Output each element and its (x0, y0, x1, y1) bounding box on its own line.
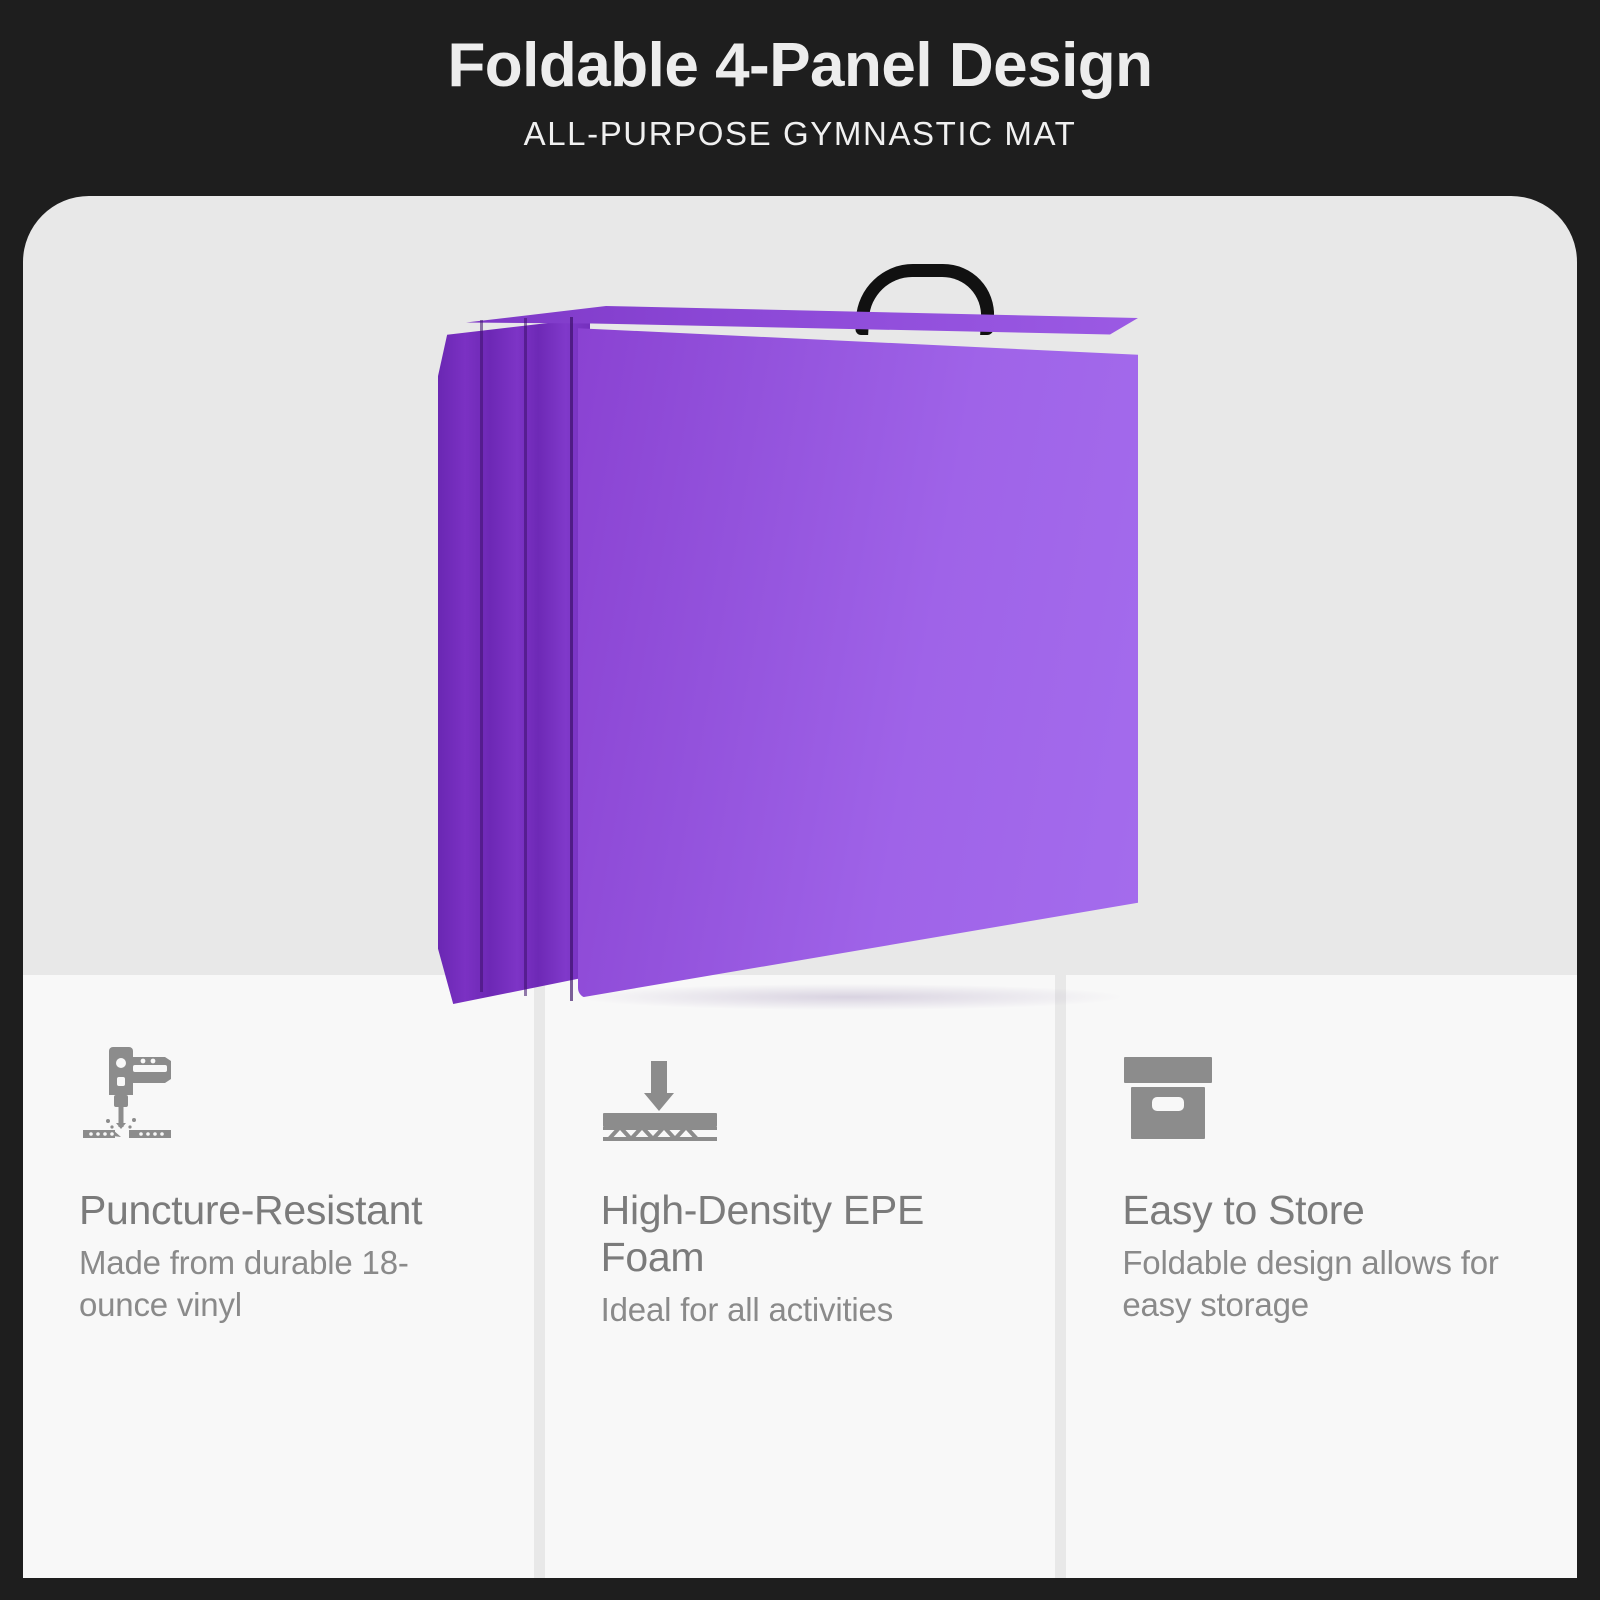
feature-title: High-Density EPE Foam (601, 1187, 1006, 1281)
drill-puncture-icon (79, 1037, 484, 1141)
content-panel: Puncture-Resistant Made from durable 18-… (23, 196, 1577, 1578)
feature-card-easy-to-store: Easy to Store Foldable design allows for… (1066, 975, 1577, 1578)
mat-seam-line (570, 317, 573, 1001)
feature-description: Ideal for all activities (601, 1289, 1006, 1331)
mat-shadow (580, 984, 1120, 1010)
page-subtitle: ALL-PURPOSE GYMNASTIC MAT (0, 104, 1600, 154)
mat-folded-panels-side (438, 314, 590, 1004)
downward-pressure-foam-icon (601, 1037, 1006, 1141)
feature-title: Easy to Store (1122, 1187, 1527, 1234)
folded-mat-illustration (420, 258, 1140, 988)
feature-description: Foldable design allows for easy storage (1122, 1242, 1527, 1326)
mat-front-face (578, 318, 1138, 998)
mat-seam-line (480, 320, 483, 992)
product-infographic: Foldable 4-Panel Design ALL-PURPOSE GYMN… (0, 0, 1600, 1600)
feature-title: Puncture-Resistant (79, 1187, 484, 1234)
feature-card-epe-foam: High-Density EPE Foam Ideal for all acti… (545, 975, 1056, 1578)
feature-card-puncture-resistant: Puncture-Resistant Made from durable 18-… (23, 975, 534, 1578)
product-image (23, 196, 1577, 1026)
feature-description: Made from durable 18-ounce vinyl (79, 1242, 484, 1326)
header-banner: Foldable 4-Panel Design ALL-PURPOSE GYMN… (0, 0, 1600, 196)
downward-pressure-foam-icon-glyph (601, 1055, 719, 1141)
storage-box-icon-glyph (1122, 1053, 1214, 1141)
mat-seam-line (524, 318, 527, 996)
storage-box-icon (1122, 1037, 1527, 1141)
feature-card-list: Puncture-Resistant Made from durable 18-… (23, 975, 1577, 1578)
drill-puncture-icon-glyph (79, 1041, 183, 1141)
page-title: Foldable 4-Panel Design (0, 0, 1600, 104)
